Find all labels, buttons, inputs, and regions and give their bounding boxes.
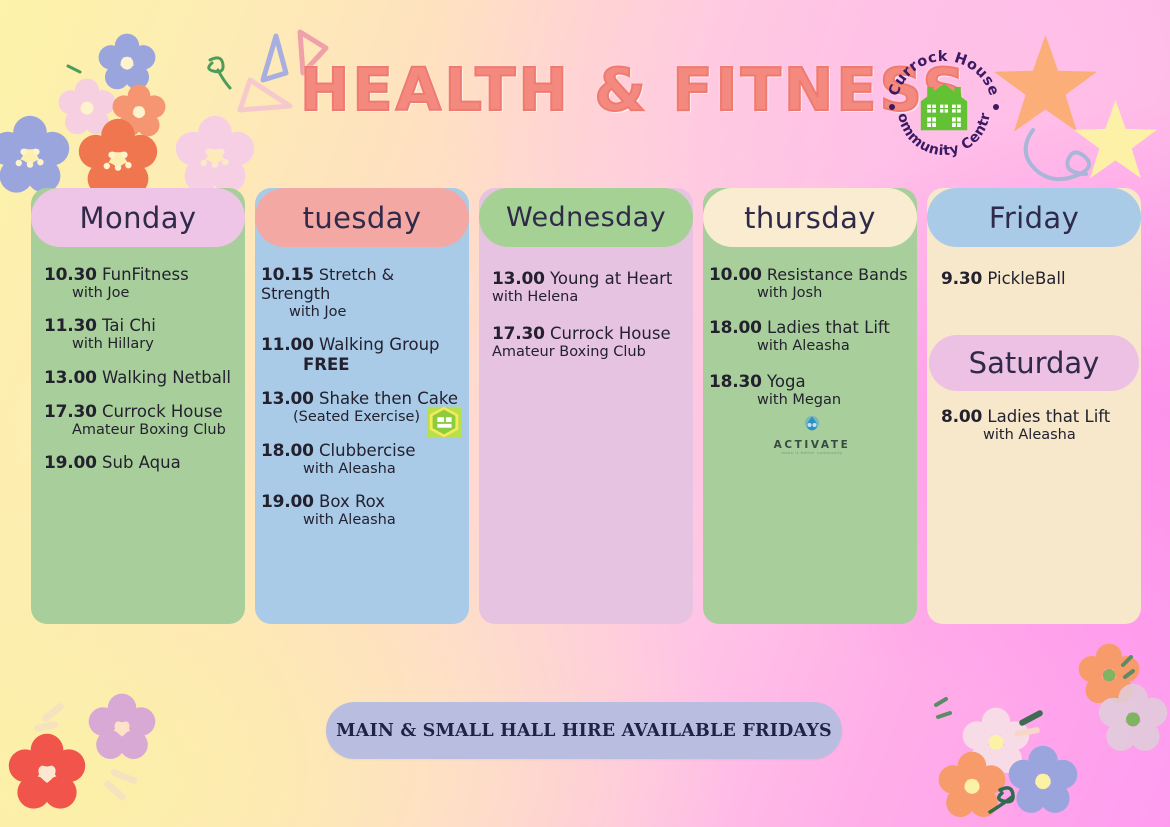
- leaf-doodle-icon: [928, 687, 988, 737]
- day-column-thursday: thursday 10.00 Resistance Bands with Jos…: [703, 188, 917, 624]
- entry-list-saturday: 8.00 Ladies that Lift with Aleasha: [927, 391, 1141, 444]
- leaf-doodle-icon: [62, 60, 102, 94]
- timetable-entry[interactable]: 11.00 Walking Group FREE: [261, 335, 465, 375]
- timetable-entry[interactable]: 19.00 Sub Aqua: [44, 453, 233, 473]
- timetable-entry[interactable]: 10.00 Resistance Bands with Josh: [709, 265, 915, 302]
- star-icon: [1073, 100, 1158, 185]
- currock-house-logo: Currock House Community Centre: [884, 47, 1004, 167]
- entry-list-thursday: 10.00 Resistance Bands with Josh 18.00 L…: [703, 247, 917, 455]
- day-header-saturday: Saturday: [929, 335, 1139, 391]
- entry-time: 17.30: [492, 324, 545, 344]
- entry-title: Sub Aqua: [102, 453, 181, 472]
- day-column-wednesday: Wednesday 13.00 Young at Heart with Hele…: [479, 188, 693, 624]
- day-header-tuesday: tuesday: [255, 188, 469, 247]
- entry-title: Clubbercise: [319, 441, 416, 460]
- timetable-entry[interactable]: 10.30 FunFitness with Joe: [44, 265, 233, 302]
- entry-sub: with Aleasha: [709, 338, 915, 355]
- sparkle-dash: [1014, 727, 1041, 737]
- swirl-doodle-icon: [1015, 125, 1125, 185]
- flower-icon: [1008, 745, 1078, 815]
- entry-sub-free: FREE: [261, 355, 465, 375]
- entry-time: 8.00: [941, 407, 982, 427]
- entry-list-monday: 10.30 FunFitness with Joe 11.30 Tai Chi …: [31, 247, 245, 473]
- entry-title: PickleBall: [987, 269, 1065, 288]
- timetable-entry[interactable]: 8.00 Ladies that Lift with Aleasha: [941, 407, 1129, 444]
- flower-icon: [78, 118, 158, 198]
- entry-time: 19.00: [44, 453, 97, 473]
- timetable-grid: Monday 10.30 FunFitness with Joe 11.30 T…: [31, 188, 1141, 624]
- day-column-friday: Friday 9.30 PickleBall Saturday 8.00 Lad…: [927, 188, 1141, 624]
- entry-title: Ladies that Lift: [767, 318, 890, 337]
- house-icon: [916, 80, 972, 134]
- entry-sub: Amateur Boxing Club: [492, 344, 681, 361]
- entry-title: Tai Chi: [102, 316, 156, 335]
- entry-title: Box Rox: [319, 492, 385, 511]
- flower-icon: [0, 115, 70, 195]
- timetable-entry[interactable]: 17.30 Currock House Amateur Boxing Club: [44, 402, 233, 439]
- entry-list-tuesday: 10.15 Stretch & Strength with Joe 11.00 …: [255, 247, 469, 529]
- entry-time: 18.00: [709, 318, 762, 338]
- page-title: HEALTH & FITNESS: [300, 52, 880, 128]
- flower-icon: [1078, 643, 1140, 705]
- timetable-entry[interactable]: 18.30 Yoga with Megan ACTIVATE make it b…: [709, 372, 915, 455]
- entry-time: 10.15: [261, 265, 314, 285]
- flower-icon: [112, 84, 166, 138]
- timetable-entry[interactable]: 17.30 Currock House Amateur Boxing Club: [492, 324, 681, 361]
- flower-icon: [962, 707, 1030, 775]
- day-header-thursday: thursday: [703, 188, 917, 247]
- entry-sub: with Helena: [492, 289, 681, 306]
- timetable-entry[interactable]: 13.00 Young at Heart with Helena: [492, 269, 681, 306]
- sparkle-dash: [110, 768, 139, 785]
- activate-wordmark: ACTIVATE: [709, 439, 915, 451]
- hexagon-logo-badge-icon: [425, 403, 463, 441]
- flower-icon: [938, 751, 1006, 819]
- entry-title: Young at Heart: [550, 269, 672, 288]
- decoration-bottom-right: [930, 625, 1170, 827]
- activate-logo: ACTIVATE make it better community: [709, 413, 915, 455]
- timetable-entry[interactable]: 10.15 Stretch & Strength with Joe: [261, 265, 465, 321]
- timetable-entry[interactable]: 11.30 Tai Chi with Hillary: [44, 316, 233, 353]
- activate-tagline: make it better community: [709, 451, 915, 455]
- entry-title: Walking Netball: [102, 368, 231, 387]
- decoration-bottom-left: [0, 645, 260, 827]
- poster-canvas: HEALTH & FITNESS Currock House Community…: [0, 0, 1170, 827]
- entry-time: 11.30: [44, 316, 97, 336]
- timetable-entry[interactable]: 13.00 Shake then Cake (Seated Exercise): [261, 389, 465, 426]
- decoration-top-left: [0, 0, 270, 200]
- entry-sub: with Megan: [709, 392, 915, 409]
- sparkle-dash: [34, 721, 59, 733]
- decoration-top-right: [985, 20, 1170, 205]
- star-icon: [993, 35, 1098, 140]
- flower-icon: [88, 693, 156, 761]
- hall-hire-banner-text: MAIN & SMALL HALL HIRE AVAILABLE FRIDAYS: [336, 721, 832, 741]
- entry-list-friday: 9.30 PickleBall: [927, 247, 1141, 289]
- sparkle-dash: [41, 702, 66, 724]
- entry-sub: Amateur Boxing Club: [44, 422, 233, 439]
- activate-droplet-icon: [802, 413, 822, 433]
- entry-time: 13.00: [261, 389, 314, 409]
- flower-icon: [58, 78, 116, 136]
- entry-title: FunFitness: [102, 265, 189, 284]
- entry-title: Ladies that Lift: [987, 407, 1110, 426]
- entry-time: 17.30: [44, 402, 97, 422]
- day-header-monday: Monday: [31, 188, 245, 247]
- entry-time: 13.00: [44, 368, 97, 388]
- leaf-doodle-icon: [196, 52, 242, 94]
- sparkle-dash: [103, 779, 127, 802]
- day-column-tuesday: tuesday 10.15 Stretch & Strength with Jo…: [255, 188, 469, 624]
- entry-sub: with Aleasha: [941, 427, 1129, 444]
- entry-title: Resistance Bands: [767, 265, 908, 284]
- timetable-entry[interactable]: 18.00 Clubbercise with Aleasha: [261, 441, 465, 478]
- entry-time: 19.00: [261, 492, 314, 512]
- entry-sub: with Aleasha: [261, 461, 465, 478]
- flower-icon: [1098, 683, 1168, 753]
- entry-sub: with Aleasha: [261, 512, 465, 529]
- entry-title: Walking Group: [319, 335, 440, 354]
- entry-time: 10.30: [44, 265, 97, 285]
- entry-sub: with Joe: [261, 304, 465, 321]
- entry-sub: with Hillary: [44, 336, 233, 353]
- entry-time: 10.00: [709, 265, 762, 285]
- entry-list-wednesday: 13.00 Young at Heart with Helena 17.30 C…: [479, 247, 693, 362]
- day-header-friday: Friday: [927, 188, 1141, 247]
- leaf-doodle-icon: [1075, 655, 1135, 705]
- entry-time: 18.00: [261, 441, 314, 461]
- timetable-entry[interactable]: 18.00 Ladies that Lift with Aleasha: [709, 318, 915, 355]
- hall-hire-banner[interactable]: MAIN & SMALL HALL HIRE AVAILABLE FRIDAYS: [326, 702, 842, 759]
- timetable-entry[interactable]: 9.30 PickleBall: [941, 269, 1129, 289]
- entry-time: 18.30: [709, 372, 762, 392]
- entry-title: Currock House: [550, 324, 671, 343]
- timetable-entry[interactable]: 13.00 Walking Netball: [44, 368, 233, 388]
- entry-sub: with Josh: [709, 285, 915, 302]
- day-column-monday: Monday 10.30 FunFitness with Joe 11.30 T…: [31, 188, 245, 624]
- timetable-entry[interactable]: 19.00 Box Rox with Aleasha: [261, 492, 465, 529]
- day-header-wednesday: Wednesday: [479, 188, 693, 247]
- entry-sub: with Joe: [44, 285, 233, 302]
- sparkle-dash: [1018, 709, 1044, 727]
- flower-icon: [98, 33, 156, 91]
- entry-title: Currock House: [102, 402, 223, 421]
- entry-time: 9.30: [941, 269, 982, 289]
- entry-title: Yoga: [767, 372, 806, 391]
- flower-icon: [8, 733, 86, 811]
- leaf-doodle-icon: [978, 780, 1032, 824]
- entry-time: 11.00: [261, 335, 314, 355]
- entry-time: 13.00: [492, 269, 545, 289]
- flower-icon: [175, 115, 255, 195]
